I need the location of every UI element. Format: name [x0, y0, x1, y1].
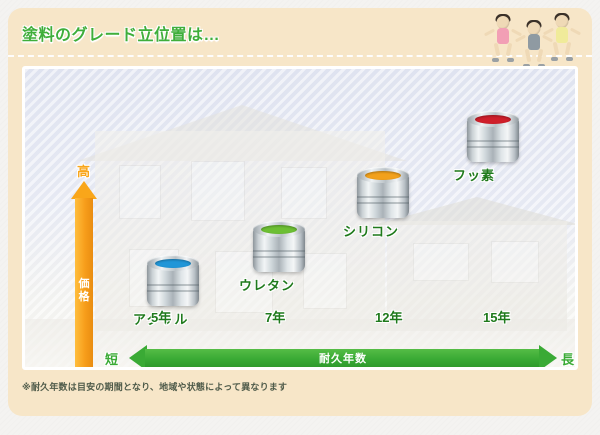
- body-icon: [556, 27, 568, 43]
- durability-axis-arrow: 耐久年数: [129, 345, 557, 370]
- header: 塗料のグレード立位置は…: [8, 8, 592, 60]
- window: [491, 241, 539, 283]
- can-icon: [253, 221, 305, 273]
- mascot-figure-left: [490, 14, 516, 60]
- year-label-acrylic: 5年: [151, 307, 171, 326]
- durability-axis-label: 耐久年数: [319, 350, 367, 366]
- leg-icon: [506, 43, 513, 57]
- can-rib: [147, 284, 199, 286]
- house-body: [95, 131, 385, 331]
- can-paint-surface: [261, 225, 297, 234]
- arrow-head-up-icon: [71, 181, 97, 199]
- body-icon: [497, 28, 509, 44]
- can-paint-surface: [365, 171, 401, 180]
- can-rib: [467, 146, 519, 148]
- window: [413, 243, 469, 281]
- leg-icon: [525, 49, 532, 63]
- axis-cap-high: 高: [77, 161, 90, 180]
- axis-cap-long: 長: [561, 349, 574, 368]
- leg-icon: [565, 42, 572, 56]
- axis-cap-short: 短: [105, 349, 118, 368]
- can-icon: [467, 111, 519, 163]
- mascot-figure-right: [549, 13, 575, 59]
- mascot-illustration: [486, 10, 582, 62]
- footnote: ※耐久年数は目安の期間となり、地域や状態によって異なります: [22, 380, 287, 393]
- mascot-figure-center: [521, 20, 547, 66]
- can-label: シリコン: [343, 221, 399, 240]
- infographic-page: 塗料のグレード立位置は…: [0, 0, 600, 435]
- can-paint-surface: [475, 115, 511, 124]
- foot-icon: [551, 57, 558, 61]
- can-label: フッ素: [453, 165, 495, 184]
- price-axis-label: 価格: [77, 278, 91, 304]
- window: [119, 165, 161, 219]
- diagram-panel: 高 価格 安 アクリル: [22, 66, 578, 370]
- can-rib: [147, 290, 199, 292]
- arrow-head-right-icon: [539, 345, 557, 370]
- can-rib: [253, 256, 305, 258]
- page-title: 塗料のグレード立位置は…: [22, 21, 220, 45]
- can-rib: [357, 202, 409, 204]
- can-label: ウレタン: [239, 275, 295, 294]
- house-body-secondary: [387, 221, 567, 331]
- year-label-fluorine: 15年: [483, 307, 510, 326]
- leg-icon: [553, 42, 560, 56]
- can-rib: [357, 196, 409, 198]
- can-rib: [467, 140, 519, 142]
- year-label-silicone: 12年: [375, 307, 402, 326]
- leg-icon: [494, 43, 501, 57]
- window: [281, 167, 327, 219]
- arm-icon: [515, 35, 526, 43]
- window: [191, 161, 245, 221]
- window: [303, 253, 347, 309]
- price-axis-arrow: 価格: [71, 181, 97, 370]
- leg-icon: [537, 49, 544, 63]
- content-card: 塗料のグレード立位置は…: [8, 8, 592, 416]
- foot-icon: [492, 58, 499, 62]
- foot-icon: [507, 58, 514, 62]
- can-icon: [147, 255, 199, 307]
- can-rib: [253, 250, 305, 252]
- arm-icon: [484, 29, 495, 37]
- foot-icon: [566, 57, 573, 61]
- can-icon: [357, 167, 409, 219]
- arm-icon: [570, 28, 581, 36]
- can-paint-surface: [155, 259, 191, 268]
- year-label-urethane: 7年: [265, 307, 285, 326]
- body-icon: [528, 34, 540, 50]
